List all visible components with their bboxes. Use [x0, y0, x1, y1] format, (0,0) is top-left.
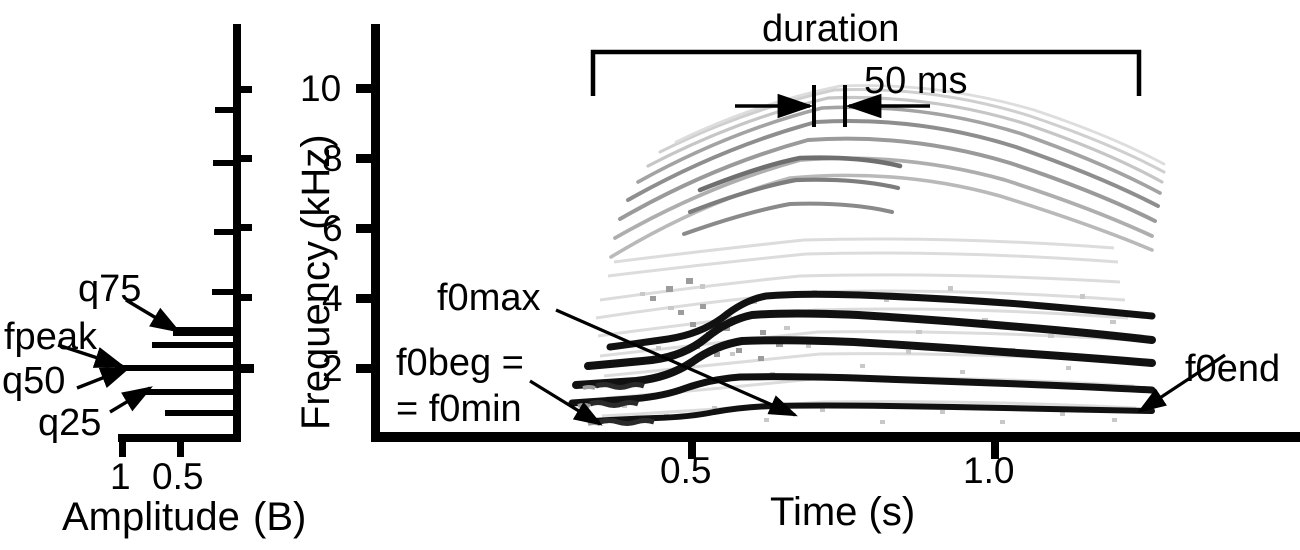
q50-arrow	[77, 368, 128, 388]
time-axis-title: Time (s)	[770, 492, 915, 532]
spectrum-trace	[115, 110, 236, 413]
f0max-label: f0max	[437, 279, 540, 317]
spectrogram-time-ticks	[688, 442, 999, 459]
spectrum-amplitude-ticks	[119, 442, 184, 457]
harmonic-5	[610, 294, 1152, 347]
spectrogram-faint-harmonics	[611, 86, 1164, 258]
duration-label: duration	[762, 10, 899, 48]
spectrum-amplitude-axis	[118, 434, 241, 442]
amplitude-tick-0p5: 0.5	[152, 458, 203, 495]
frequency-axis-title: Frequency (kHz)	[296, 134, 336, 430]
spectrogram-frequency-spine	[371, 24, 380, 438]
ytick-2	[356, 364, 372, 373]
spectrum-label-fpeak: fpeak	[4, 318, 97, 356]
harmonic-f0	[594, 406, 1152, 422]
spectrum-spine-ticks	[241, 86, 254, 373]
f0end-label: f0end	[1185, 350, 1280, 388]
time-tick-0p5: 0.5	[660, 452, 711, 489]
q25-arrow	[110, 388, 150, 412]
ytick-10	[356, 84, 372, 93]
spectrum-label-q50: q50	[2, 362, 65, 400]
spectrum-frequency-spine	[233, 24, 241, 438]
ytick-6	[356, 224, 372, 233]
figure-root: q75 fpeak q50 q25 1 0.5 Amplitude (B) 10…	[0, 0, 1300, 550]
frequency-tick-10: 10	[300, 70, 341, 107]
amplitude-axis-title: Amplitude	[62, 497, 240, 537]
amplitude-axis-unit: (B)	[253, 497, 306, 537]
f0beg-label: f0beg =	[396, 344, 524, 382]
ytick-4	[356, 294, 372, 303]
spectrogram-time-axis	[371, 432, 1300, 442]
interval-label: 50 ms	[864, 62, 967, 100]
spectrogram-frequency-ticks	[356, 84, 372, 373]
ytick-8	[356, 154, 372, 163]
f0min-label: = f0min	[396, 390, 522, 428]
time-tick-1p0: 1.0	[963, 452, 1014, 489]
power-spectrum-plot	[58, 24, 254, 457]
spectrum-label-q25: q25	[38, 404, 101, 442]
amplitude-tick-1: 1	[110, 458, 131, 495]
spectrum-label-q75: q75	[78, 270, 141, 308]
